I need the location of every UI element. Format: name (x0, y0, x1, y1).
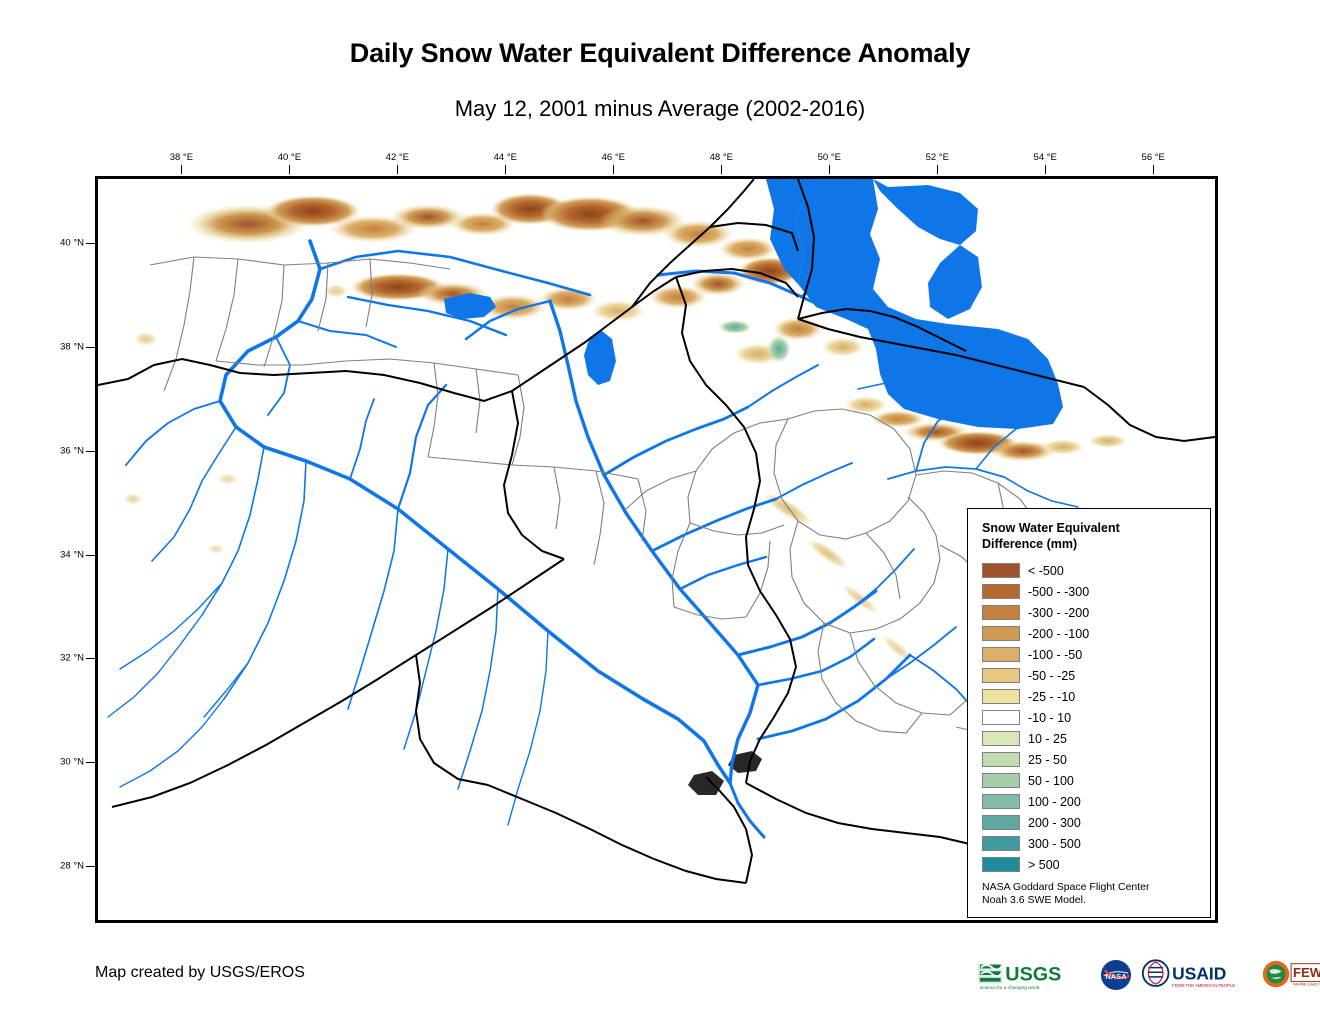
lon-tick-label: 56 °E (1142, 152, 1165, 163)
legend-row: -50 - -25 (982, 665, 1210, 686)
lon-tick-label: 50 °E (818, 152, 841, 163)
lon-tick-mark (397, 165, 398, 174)
legend-label: > 500 (1028, 858, 1060, 872)
legend-swatch (982, 647, 1020, 662)
legend-swatch (982, 815, 1020, 830)
legend-swatch (982, 752, 1020, 767)
lat-tick-label: 28 °N (44, 860, 84, 871)
lat-tick-mark (86, 658, 95, 659)
lat-tick-label: 36 °N (44, 445, 84, 456)
svg-text:NASA: NASA (1105, 972, 1127, 981)
svg-text:FEWS NET: FEWS NET (1293, 965, 1320, 980)
legend-swatch (982, 626, 1020, 641)
lon-tick-label: 46 °E (602, 152, 625, 163)
svg-text:FROM THE AMERICAN PEOPLE: FROM THE AMERICAN PEOPLE (1172, 983, 1235, 988)
legend-row: > 500 (982, 854, 1210, 875)
legend-label: 300 - 500 (1028, 837, 1081, 851)
lon-tick-mark (289, 165, 290, 174)
legend-label: 50 - 100 (1028, 774, 1074, 788)
legend-swatch (982, 731, 1020, 746)
legend-panel: Snow Water Equivalent Difference (mm) < … (967, 508, 1211, 918)
legend-label: -10 - 10 (1028, 711, 1071, 725)
legend-swatch (982, 584, 1020, 599)
legend-title: Snow Water Equivalent Difference (mm) (982, 520, 1192, 552)
lat-tick-mark (86, 866, 95, 867)
legend-label: -25 - -10 (1028, 690, 1075, 704)
legend-row: -25 - -10 (982, 686, 1210, 707)
legend-row: 50 - 100 (982, 770, 1210, 791)
legend-title-line2: Difference (mm) (982, 536, 1192, 552)
legend-swatch (982, 605, 1020, 620)
lon-tick-mark (613, 165, 614, 174)
legend-row: -100 - -50 (982, 644, 1210, 665)
nasa-logo: NASA (1100, 959, 1132, 991)
lat-tick-mark (86, 451, 95, 452)
legend-swatch (982, 563, 1020, 578)
legend-swatch (982, 668, 1020, 683)
legend-swatch (982, 710, 1020, 725)
lon-tick-mark (1045, 165, 1046, 174)
page-subtitle: May 12, 2001 minus Average (2002-2016) (0, 96, 1320, 122)
usgs-logo: USGS science for a changing world (978, 959, 1091, 991)
legend-label: -50 - -25 (1028, 669, 1075, 683)
legend-label: -200 - -100 (1028, 627, 1089, 641)
svg-text:science for a changing world: science for a changing world (980, 985, 1040, 990)
usaid-logo: USAID FROM THE AMERICAN PEOPLE (1141, 959, 1251, 991)
svg-text:USAID: USAID (1172, 964, 1226, 984)
lon-tick-label: 42 °E (386, 152, 409, 163)
legend-label: -500 - -300 (1028, 585, 1089, 599)
legend-label: 10 - 25 (1028, 732, 1067, 746)
lon-tick-label: 38 °E (170, 152, 193, 163)
legend-row: -200 - -100 (982, 623, 1210, 644)
legend-row: 200 - 300 (982, 812, 1210, 833)
legend-source: NASA Goddard Space Flight Center Noah 3.… (982, 881, 1150, 907)
svg-text:USGS: USGS (1005, 964, 1061, 986)
legend-label: -100 - -50 (1028, 648, 1082, 662)
legend-row: 10 - 25 (982, 728, 1210, 749)
lon-tick-mark (937, 165, 938, 174)
legend-title-line1: Snow Water Equivalent (982, 520, 1192, 536)
legend-items: < -500-500 - -300-300 - -200-200 - -100-… (982, 560, 1210, 875)
legend-label: < -500 (1028, 564, 1064, 578)
lat-tick-mark (86, 555, 95, 556)
legend-source-line2: Noah 3.6 SWE Model. (982, 894, 1150, 907)
legend-swatch (982, 773, 1020, 788)
lat-tick-mark (86, 243, 95, 244)
legend-swatch (982, 857, 1020, 872)
legend-row: -10 - 10 (982, 707, 1210, 728)
lon-tick-label: 48 °E (710, 152, 733, 163)
lat-tick-mark (86, 762, 95, 763)
legend-source-line1: NASA Goddard Space Flight Center (982, 881, 1150, 894)
lon-tick-mark (1153, 165, 1154, 174)
legend-row: < -500 (982, 560, 1210, 581)
lon-tick-mark (721, 165, 722, 174)
fewsnet-logo: FEWS NET FAMINE EARLY WARNING SYSTEMS NE… (1260, 959, 1320, 991)
lat-tick-label: 30 °N (44, 757, 84, 768)
legend-swatch (982, 836, 1020, 851)
lat-tick-mark (86, 347, 95, 348)
lat-tick-label: 34 °N (44, 549, 84, 560)
legend-swatch (982, 794, 1020, 809)
lon-tick-mark (505, 165, 506, 174)
lon-tick-label: 52 °E (926, 152, 949, 163)
legend-label: 200 - 300 (1028, 816, 1081, 830)
legend-row: 100 - 200 (982, 791, 1210, 812)
lon-tick-label: 40 °E (278, 152, 301, 163)
page-title: Daily Snow Water Equivalent Difference A… (0, 38, 1320, 69)
legend-swatch (982, 689, 1020, 704)
legend-label: 25 - 50 (1028, 753, 1067, 767)
lon-tick-label: 54 °E (1034, 152, 1057, 163)
lon-tick-mark (181, 165, 182, 174)
lat-tick-label: 38 °N (44, 342, 84, 353)
lon-tick-mark (829, 165, 830, 174)
lat-tick-label: 32 °N (44, 653, 84, 664)
svg-text:FAMINE EARLY WARNING SYSTEMS N: FAMINE EARLY WARNING SYSTEMS NETWORK (1293, 982, 1320, 986)
agency-logos: USGS science for a changing world NASA U… (978, 956, 1320, 994)
lat-tick-label: 40 °N (44, 238, 84, 249)
lon-tick-label: 44 °E (494, 152, 517, 163)
legend-row: -500 - -300 (982, 581, 1210, 602)
legend-label: 100 - 200 (1028, 795, 1081, 809)
legend-row: -300 - -200 (982, 602, 1210, 623)
legend-label: -300 - -200 (1028, 606, 1089, 620)
map-credit: Map created by USGS/EROS (95, 964, 305, 982)
legend-row: 300 - 500 (982, 833, 1210, 854)
legend-row: 25 - 50 (982, 749, 1210, 770)
